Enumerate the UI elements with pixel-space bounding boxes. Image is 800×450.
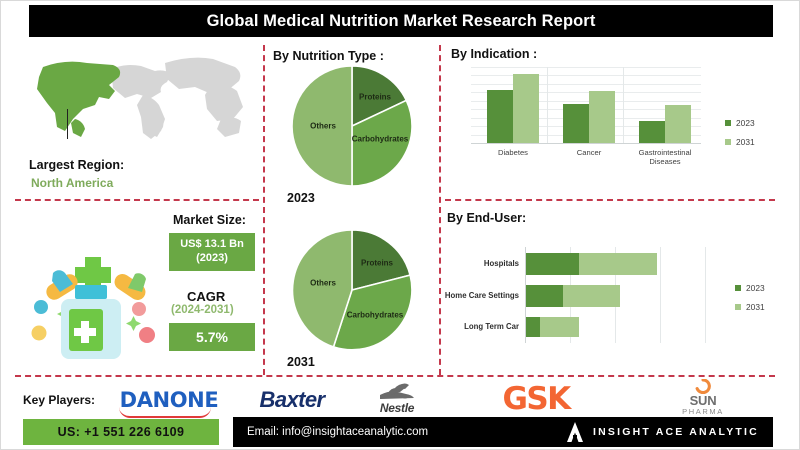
enduser-legend: 2023 2031 — [735, 283, 765, 321]
cagr-box: 5.7% — [169, 323, 255, 351]
legend-item-2023: 2023 — [725, 118, 755, 128]
enduser-title: By End-User: — [447, 211, 526, 225]
divider-horizontal-bottom — [15, 375, 775, 377]
pie-year-2031: 2031 — [287, 355, 315, 369]
pie-slice-label-others-2031: Others — [310, 279, 336, 288]
market-size-year: (2023) — [196, 252, 228, 266]
legend-swatch-2031 — [735, 304, 741, 310]
legend-item-2031: 2031 — [725, 137, 755, 147]
cagr-years: (2024-2031) — [171, 304, 234, 316]
pie-slice-label-others-2023: Others — [310, 122, 336, 131]
divider-vertical-left — [263, 45, 265, 375]
logo-baxter: Baxter — [237, 387, 347, 413]
pie-slice-label-carbohydrates-2023: Carbohydrates — [352, 135, 408, 144]
hbar-long-term-care-2023 — [525, 317, 540, 337]
hbar-long-term-care-2031 — [540, 317, 579, 337]
legend-label-2023: 2023 — [746, 283, 765, 293]
indication-legend: 2023 2031 — [725, 118, 755, 156]
legend-item-2023: 2023 — [735, 283, 765, 293]
divider-horizontal-right — [445, 199, 775, 201]
nutrition-type-title: By Nutrition Type : — [273, 49, 384, 63]
bar-cancer-2023 — [563, 104, 589, 143]
cagr-label: CAGR — [187, 289, 225, 304]
pie-slice-label-carbohydrates-2031: Carbohydrates — [347, 311, 403, 320]
sun-swirl-icon — [683, 379, 723, 394]
brand-lockup: INSIGHT ACE ANALYTIC — [567, 422, 759, 442]
medicine-bottle-icon — [23, 251, 163, 363]
world-map-icon — [15, 49, 253, 149]
page-title: Global Medical Nutrition Market Research… — [207, 12, 596, 31]
world-map — [15, 49, 253, 149]
bar-diabetes-2023 — [487, 90, 513, 143]
pie-year-2023: 2023 — [287, 191, 315, 205]
bar-diabetes-2031 — [513, 74, 539, 143]
bar-gastrointestinal-2023 — [639, 121, 665, 143]
nestle-bird-nest-icon — [374, 382, 420, 400]
logo-gsk: GSK — [471, 383, 601, 415]
enduser-category-long-term-care: Long Term Car — [433, 322, 519, 332]
legend-label-2031: 2031 — [746, 302, 765, 312]
bar-gastrointestinal-2031 — [665, 105, 691, 143]
key-players-label: Key Players: — [23, 393, 95, 407]
market-size-value: US$ 13.1 Bn — [180, 238, 244, 252]
enduser-category-hospitals: Hospitals — [441, 259, 519, 269]
market-size-label: Market Size: — [173, 213, 246, 227]
danone-smile-icon — [119, 407, 211, 418]
legend-item-2031: 2031 — [735, 302, 765, 312]
largest-region-value: North America — [31, 176, 113, 190]
pie-chart-2031: Proteins Carbohydrates Others — [289, 227, 415, 353]
nestle-wordmark: Nestle — [380, 401, 414, 415]
hbar-home-care-2031 — [563, 285, 620, 307]
hbar-row-hospitals — [525, 253, 775, 275]
indication-category-cancer: Cancer — [577, 148, 601, 157]
pie-slice-label-proteins-2023: Proteins — [359, 93, 391, 102]
legend-label-2031: 2031 — [736, 137, 755, 147]
brand-name: INSIGHT ACE ANALYTIC — [593, 426, 759, 438]
legend-label-2023: 2023 — [736, 118, 755, 128]
largest-region-label: Largest Region: — [29, 158, 124, 172]
pie-slice-label-proteins-2031: Proteins — [361, 259, 393, 268]
insight-ace-a-logo-icon — [567, 422, 583, 442]
cagr-value: 5.7% — [196, 329, 228, 345]
logo-nestle: Nestle — [359, 381, 435, 415]
market-size-box: US$ 13.1 Bn (2023) — [169, 233, 255, 271]
indication-category-gastrointestinal: Gastrointestinal Diseases — [626, 148, 704, 167]
bar-cancer-2031 — [589, 91, 615, 143]
logo-sun-pharma: SUN PHARMA — [653, 379, 753, 415]
sun-pharma-subtext: PHARMA — [682, 408, 724, 416]
gridline — [471, 84, 701, 85]
header-bar: Global Medical Nutrition Market Research… — [29, 5, 773, 37]
legend-swatch-2023 — [725, 120, 731, 126]
divider-horizontal-left — [15, 199, 259, 201]
region-pointer-line — [67, 109, 68, 139]
gridline — [471, 75, 701, 76]
hbar-hospitals-2023 — [525, 253, 579, 275]
indication-title: By Indication : — [451, 47, 537, 61]
x-axis-baseline — [471, 143, 701, 144]
email-address[interactable]: Email: info@insightaceanalytic.com — [247, 426, 428, 438]
hbar-hospitals-2031 — [579, 253, 657, 275]
legend-swatch-2031 — [725, 139, 731, 145]
enduser-category-home-care: Home Care Settings — [441, 291, 519, 301]
category-separator — [547, 67, 548, 143]
pie-chart-2023: Proteins Carbohydrates Others — [289, 63, 415, 189]
legend-swatch-2023 — [735, 285, 741, 291]
phone-bar[interactable]: US: +1 551 226 6109 — [23, 419, 219, 445]
category-separator — [623, 67, 624, 143]
infographic-root: Global Medical Nutrition Market Research… — [0, 0, 800, 450]
sun-wordmark: SUN — [690, 394, 717, 407]
hbar-home-care-2023 — [525, 285, 563, 307]
indication-bar-chart — [471, 67, 721, 143]
gridline — [471, 67, 701, 68]
indication-category-diabetes: Diabetes — [498, 148, 528, 157]
phone-number: US: +1 551 226 6109 — [58, 425, 185, 439]
y-axis-baseline — [525, 247, 526, 343]
